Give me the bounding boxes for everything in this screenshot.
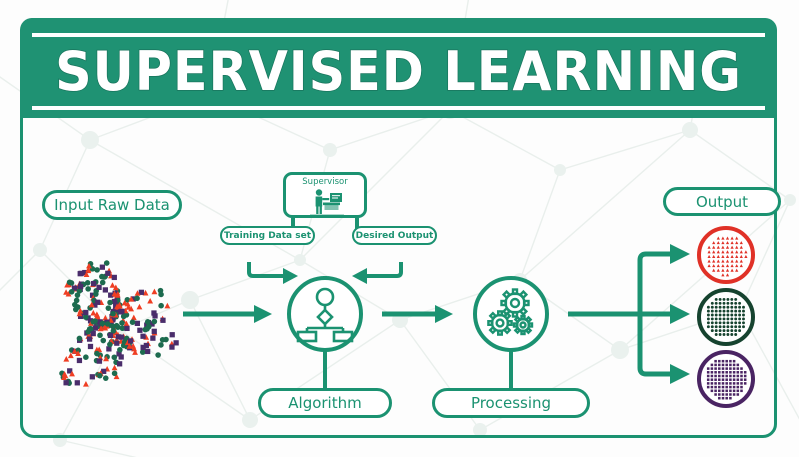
banner-bottom-rule: [32, 106, 765, 110]
label-desired-output-text: Desired Output: [356, 231, 434, 241]
infographic-canvas: SUPERVISED LEARNING: [0, 0, 799, 457]
output-squares: [697, 350, 755, 408]
label-training-data-set-text: Training Data set: [224, 231, 311, 241]
label-algorithm-text: Algorithm: [288, 394, 361, 412]
label-algorithm: Algorithm: [258, 388, 392, 418]
page-title: SUPERVISED LEARNING: [43, 38, 755, 106]
label-training-data-set: Training Data set: [220, 226, 315, 245]
label-output: Output: [663, 187, 781, 216]
circle-grid-icon: [701, 292, 751, 342]
label-processing: Processing: [432, 388, 590, 418]
algorithm-icon-circle: [287, 276, 363, 352]
output-triangles: [697, 226, 755, 284]
output-circles: [697, 288, 755, 346]
square-grid-icon: [701, 354, 751, 404]
supervisor-box: Supervisor: [283, 172, 367, 218]
label-processing-text: Processing: [471, 394, 551, 412]
banner-top-rule: [32, 33, 765, 37]
label-desired-output: Desired Output: [352, 226, 437, 245]
header-banner: SUPERVISED LEARNING: [20, 18, 777, 118]
person-at-desk-icon: [286, 175, 370, 221]
label-input-raw-data: Input Raw Data: [42, 190, 182, 220]
label-input-raw-data-text: Input Raw Data: [54, 196, 170, 214]
flowchart-icon: [291, 280, 359, 348]
label-output-text: Output: [696, 193, 748, 211]
processing-icon-circle: [473, 276, 549, 352]
triangle-grid-icon: [701, 230, 751, 280]
gears-icon: [477, 280, 545, 348]
